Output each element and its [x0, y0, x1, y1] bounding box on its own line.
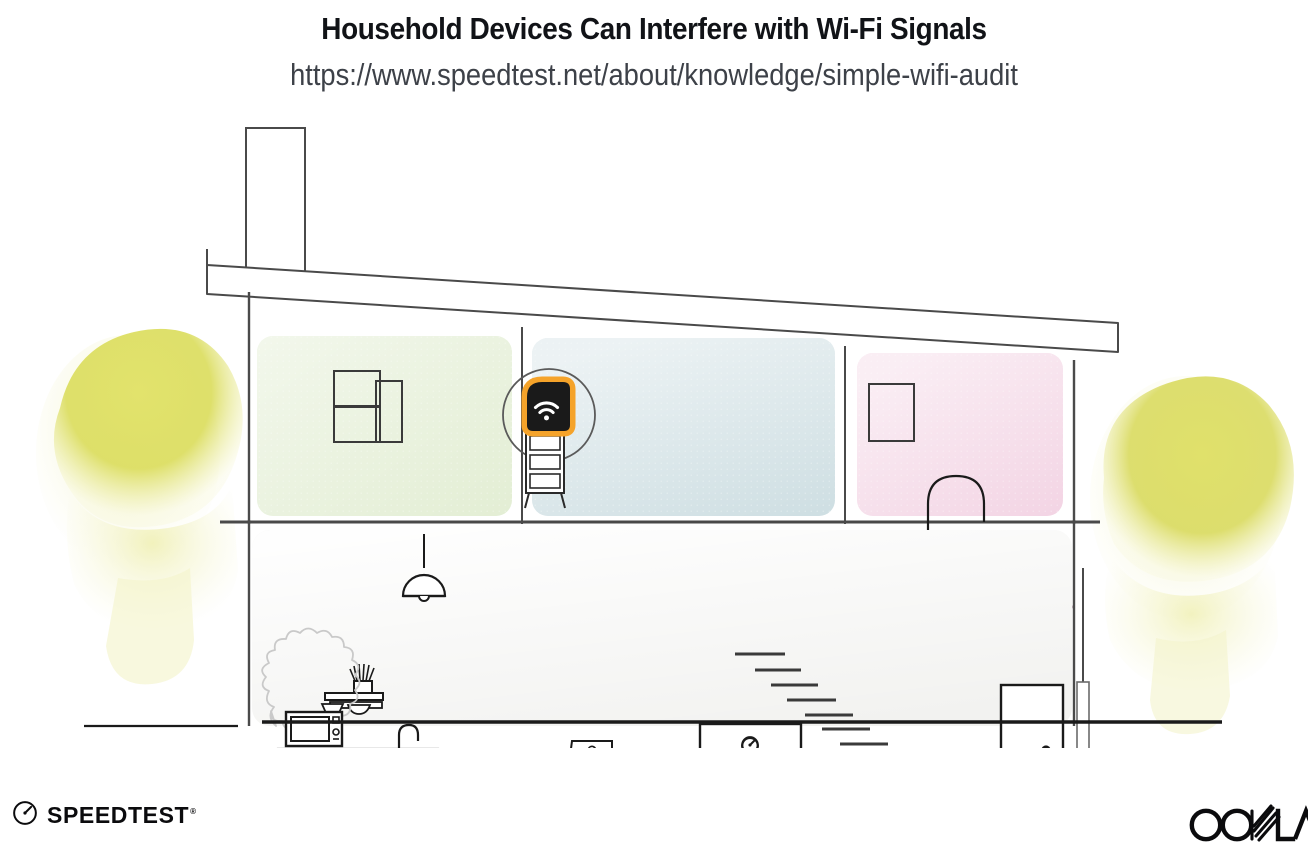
header: Household Devices Can Interfere with Wi-…	[0, 0, 1308, 95]
microwave[interactable]	[286, 712, 342, 746]
front-door[interactable]	[1001, 685, 1063, 748]
speedtest-wordmark: SPEEDTEST®	[47, 802, 197, 829]
speedtest-logo[interactable]: SPEEDTEST®	[12, 800, 197, 831]
room-downstairs: SPEEDTEST	[249, 520, 1074, 748]
speedtest-trademark: ®	[190, 807, 197, 816]
source-url: https://www.speedtest.net/about/knowledg…	[78, 49, 1229, 95]
page-title: Household Devices Can Interfere with Wi-…	[65, 0, 1242, 49]
tree-left-icon	[36, 329, 243, 685]
speedtest-gauge-icon	[12, 800, 38, 831]
television[interactable]: SPEEDTEST	[700, 724, 801, 748]
infographic-page: Household Devices Can Interfere with Wi-…	[0, 0, 1308, 861]
footer: SPEEDTEST® ™	[0, 786, 1308, 861]
house-illustration: SPEEDTEST	[0, 108, 1308, 748]
sink-faucet	[399, 725, 418, 748]
ookla-wordmark-icon: ™	[1186, 802, 1308, 848]
ookla-logo[interactable]: ™	[1186, 802, 1308, 848]
laptop[interactable]: SPEEDTEST	[563, 741, 618, 748]
wifi-router[interactable]	[527, 382, 570, 431]
tree-right-icon	[1090, 376, 1294, 734]
